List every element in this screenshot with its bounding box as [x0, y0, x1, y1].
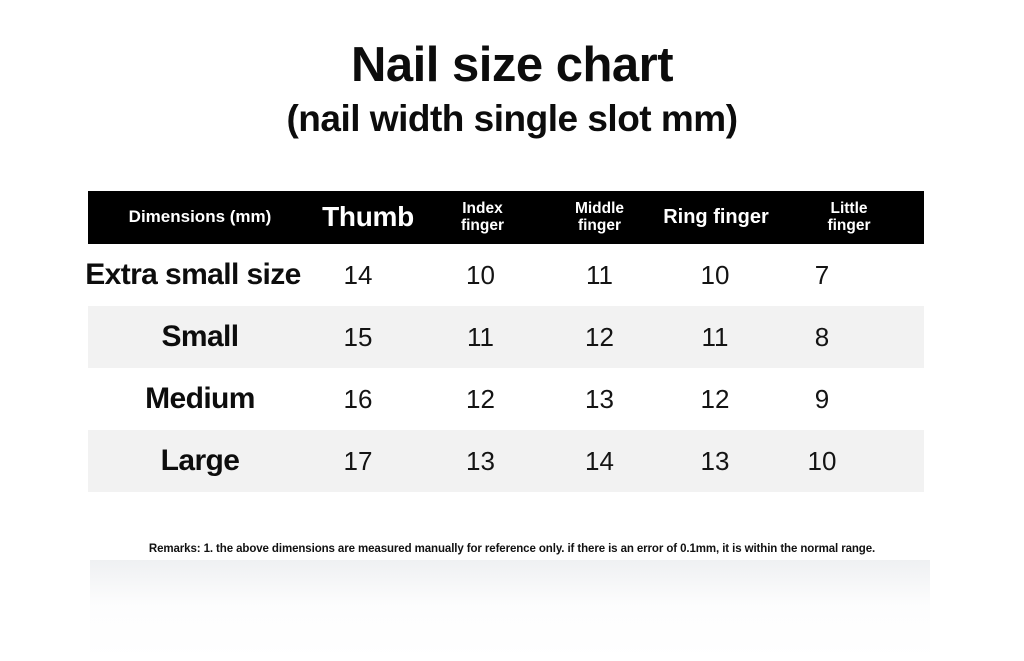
cell-index-finger: 13 [422, 446, 539, 477]
header-index-finger-line2: finger [424, 218, 541, 235]
table-row: Medium 16 12 13 12 9 [88, 368, 924, 430]
cell-middle-finger: 12 [541, 322, 658, 353]
header-little-finger-line1: Little [774, 201, 924, 218]
cell-little-finger: 7 [747, 260, 897, 291]
table-header-row: Dimensions (mm) Thumb Index finger Middl… [88, 191, 924, 244]
table-row: Small 15 11 12 11 8 [88, 306, 924, 368]
cell-middle-finger: 11 [541, 260, 658, 291]
header-index-finger: Index finger [424, 201, 541, 234]
table-row: Extra small size 14 10 11 10 7 [88, 244, 924, 306]
row-label-small: Small [88, 320, 312, 354]
cell-index-finger: 10 [422, 260, 539, 291]
cell-thumb: 15 [302, 322, 414, 353]
page-sheen [90, 560, 930, 660]
page-subtitle: (nail width single slot mm) [0, 98, 1024, 139]
size-table: Dimensions (mm) Thumb Index finger Middl… [88, 191, 924, 492]
header-ring-finger: Ring finger [658, 207, 774, 229]
header-little-finger-line2: finger [774, 218, 924, 235]
page-title: Nail size chart [0, 40, 1024, 92]
cell-little-finger: 10 [747, 446, 897, 477]
cell-thumb: 16 [302, 384, 414, 415]
cell-index-finger: 12 [422, 384, 539, 415]
header-middle-finger-line1: Middle [541, 201, 658, 218]
header-little-finger: Little finger [774, 201, 924, 234]
header-index-finger-line1: Index [424, 201, 541, 218]
cell-thumb: 17 [302, 446, 414, 477]
row-label-large: Large [88, 444, 312, 478]
header-middle-finger: Middle finger [541, 201, 658, 234]
table-row: Large 17 13 14 13 10 [88, 430, 924, 492]
row-label-medium: Medium [88, 382, 312, 416]
cell-index-finger: 11 [422, 322, 539, 353]
remarks-note: Remarks: 1. the above dimensions are mea… [0, 543, 1024, 555]
header-thumb: Thumb [312, 202, 424, 232]
header-dimensions: Dimensions (mm) [88, 208, 312, 226]
cell-middle-finger: 14 [541, 446, 658, 477]
cell-little-finger: 8 [747, 322, 897, 353]
title-block: Nail size chart (nail width single slot … [0, 40, 1024, 139]
row-label-extra-small: Extra small size [74, 258, 312, 292]
cell-thumb: 14 [302, 260, 414, 291]
header-middle-finger-line2: finger [541, 218, 658, 235]
cell-middle-finger: 13 [541, 384, 658, 415]
nail-size-chart-page: Nail size chart (nail width single slot … [0, 0, 1024, 661]
cell-little-finger: 9 [747, 384, 897, 415]
